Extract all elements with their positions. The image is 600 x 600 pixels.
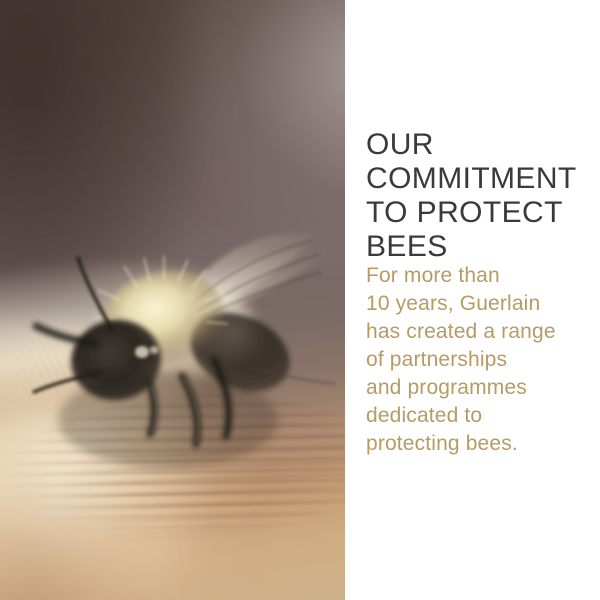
- bee-eye-highlight: [135, 346, 149, 358]
- headline-line-3: TO PROTECT: [366, 196, 598, 230]
- poster-root: OUR COMMITMENT TO PROTECT BEES For more …: [0, 0, 600, 600]
- body-line-4: of partnerships: [366, 346, 600, 374]
- body-line-2: 10 years, Guerlain: [366, 290, 600, 318]
- text-panel: OUR COMMITMENT TO PROTECT BEES For more …: [345, 0, 600, 600]
- body-copy: For more than 10 years, Guerlain has cre…: [366, 262, 600, 458]
- headline-line-1: OUR: [366, 128, 598, 162]
- bee-photograph: [0, 0, 345, 600]
- body-line-7: protecting bees.: [366, 430, 600, 458]
- body-line-5: and programmes: [366, 374, 600, 402]
- body-line-3: has created a range: [366, 318, 600, 346]
- body-line-1: For more than: [366, 262, 600, 290]
- headline-line-4: BEES: [366, 230, 598, 264]
- bee-illustration: [0, 0, 345, 600]
- page-title: OUR COMMITMENT TO PROTECT BEES: [366, 128, 598, 264]
- headline-line-2: COMMITMENT: [366, 162, 598, 196]
- body-line-6: dedicated to: [366, 402, 600, 430]
